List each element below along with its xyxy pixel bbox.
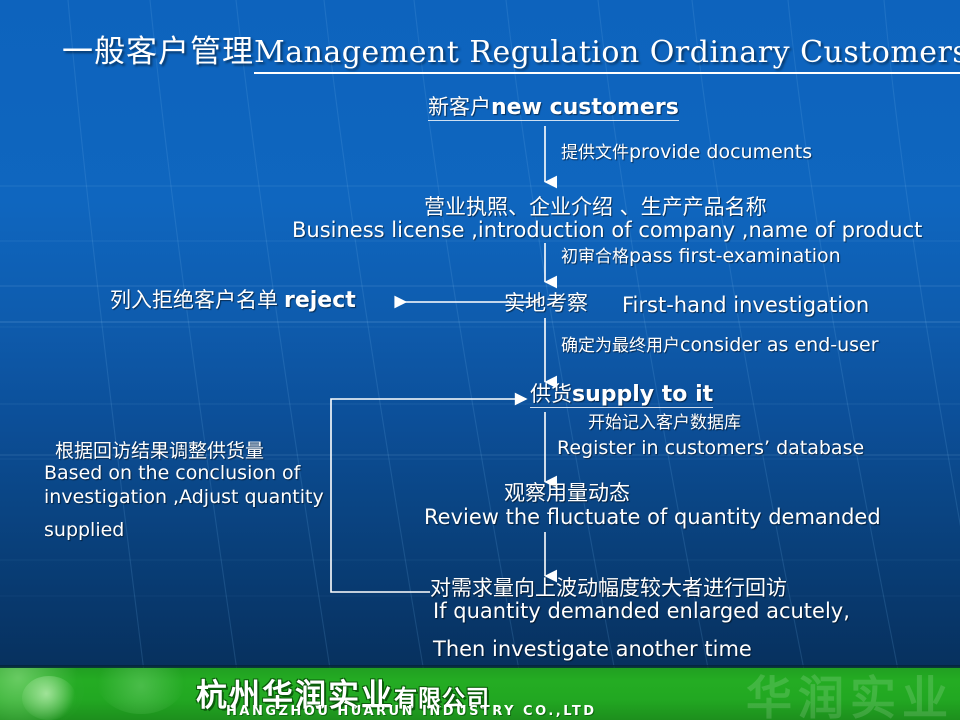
node-adjust-en-line3: supplied	[44, 521, 124, 541]
page-title-en: Management Regulation Ordinary Customers	[254, 35, 960, 74]
node-reject: 列入拒绝客户名单reject	[110, 289, 356, 312]
node-revisit-cn: 对需求量向上波动幅度较大者进行回访	[430, 577, 787, 599]
node-revisit-en-line1: If quantity demanded enlarged acutely,	[433, 600, 850, 622]
node-adjust-cn: 根据回访结果调整供货量	[55, 442, 264, 462]
node-reject-en: reject	[278, 288, 356, 313]
label-provide-documents: 提供文件provide documents	[561, 143, 812, 163]
footer-orb-small	[22, 676, 76, 720]
slide-canvas: 一般客户管理Management Regulation Ordinary Cus…	[0, 0, 960, 720]
node-reject-cn: 列入拒绝客户名单	[110, 288, 278, 312]
label-provide-documents-en: provide documents	[629, 141, 812, 163]
label-pass-first-examination: 初审合格pass first-examination	[561, 247, 841, 267]
node-supply-en: supply to it	[572, 382, 713, 407]
node-investigation-en: First-hand investigation	[622, 294, 869, 316]
label-consider-end-user-cn: 确定为最终用户	[561, 336, 680, 356]
node-new-customers-cn: 新客户	[428, 95, 491, 119]
footer-logo-bar: 华润实业 杭州华润实业有限公司 HANGZHOU HUARUN INDUSTRY…	[0, 668, 960, 720]
label-consider-end-user-en: consider as end-user	[680, 334, 879, 356]
node-business-license-en: Business license ,introduction of compan…	[292, 219, 922, 241]
label-register-database-cn: 开始记入客户数据库	[588, 415, 741, 433]
label-pass-first-examination-en: pass first-examination	[629, 245, 841, 267]
page-title-cn: 一般客户管理	[62, 34, 254, 70]
label-register-database-en: Register in customers’ database	[557, 439, 864, 459]
node-new-customers: 新客户new customers	[428, 96, 679, 121]
footer-company-name-en: HANGZHOU HUARUN INDUSTRY CO.,LTD	[226, 704, 597, 719]
footer-orb-medium	[96, 668, 186, 714]
node-review-cn: 观察用量动态	[504, 482, 630, 504]
node-new-customers-en: new customers	[491, 95, 679, 120]
node-adjust-en-line2: investigation ,Adjust quantity	[44, 488, 324, 508]
node-revisit-en-line2: Then investigate another time	[433, 638, 752, 660]
label-provide-documents-cn: 提供文件	[561, 143, 629, 163]
node-review-en: Review the fluctuate of quantity demande…	[424, 506, 881, 528]
label-consider-end-user: 确定为最终用户consider as end-user	[561, 336, 879, 356]
node-business-license-cn: 营业执照、企业介绍 、生产产品名称	[424, 196, 767, 218]
node-supply-cn: 供货	[530, 382, 572, 406]
connector-feedback-loop	[331, 399, 526, 592]
node-supply: 供货supply to it	[530, 383, 713, 408]
footer-watermark-text: 华润实业	[746, 668, 954, 720]
node-adjust-en-line1: Based on the conclusion of	[44, 464, 300, 484]
page-title: 一般客户管理Management Regulation Ordinary Cus…	[62, 26, 960, 71]
label-pass-first-examination-cn: 初审合格	[561, 247, 629, 267]
node-investigation-cn: 实地考察	[504, 292, 588, 314]
